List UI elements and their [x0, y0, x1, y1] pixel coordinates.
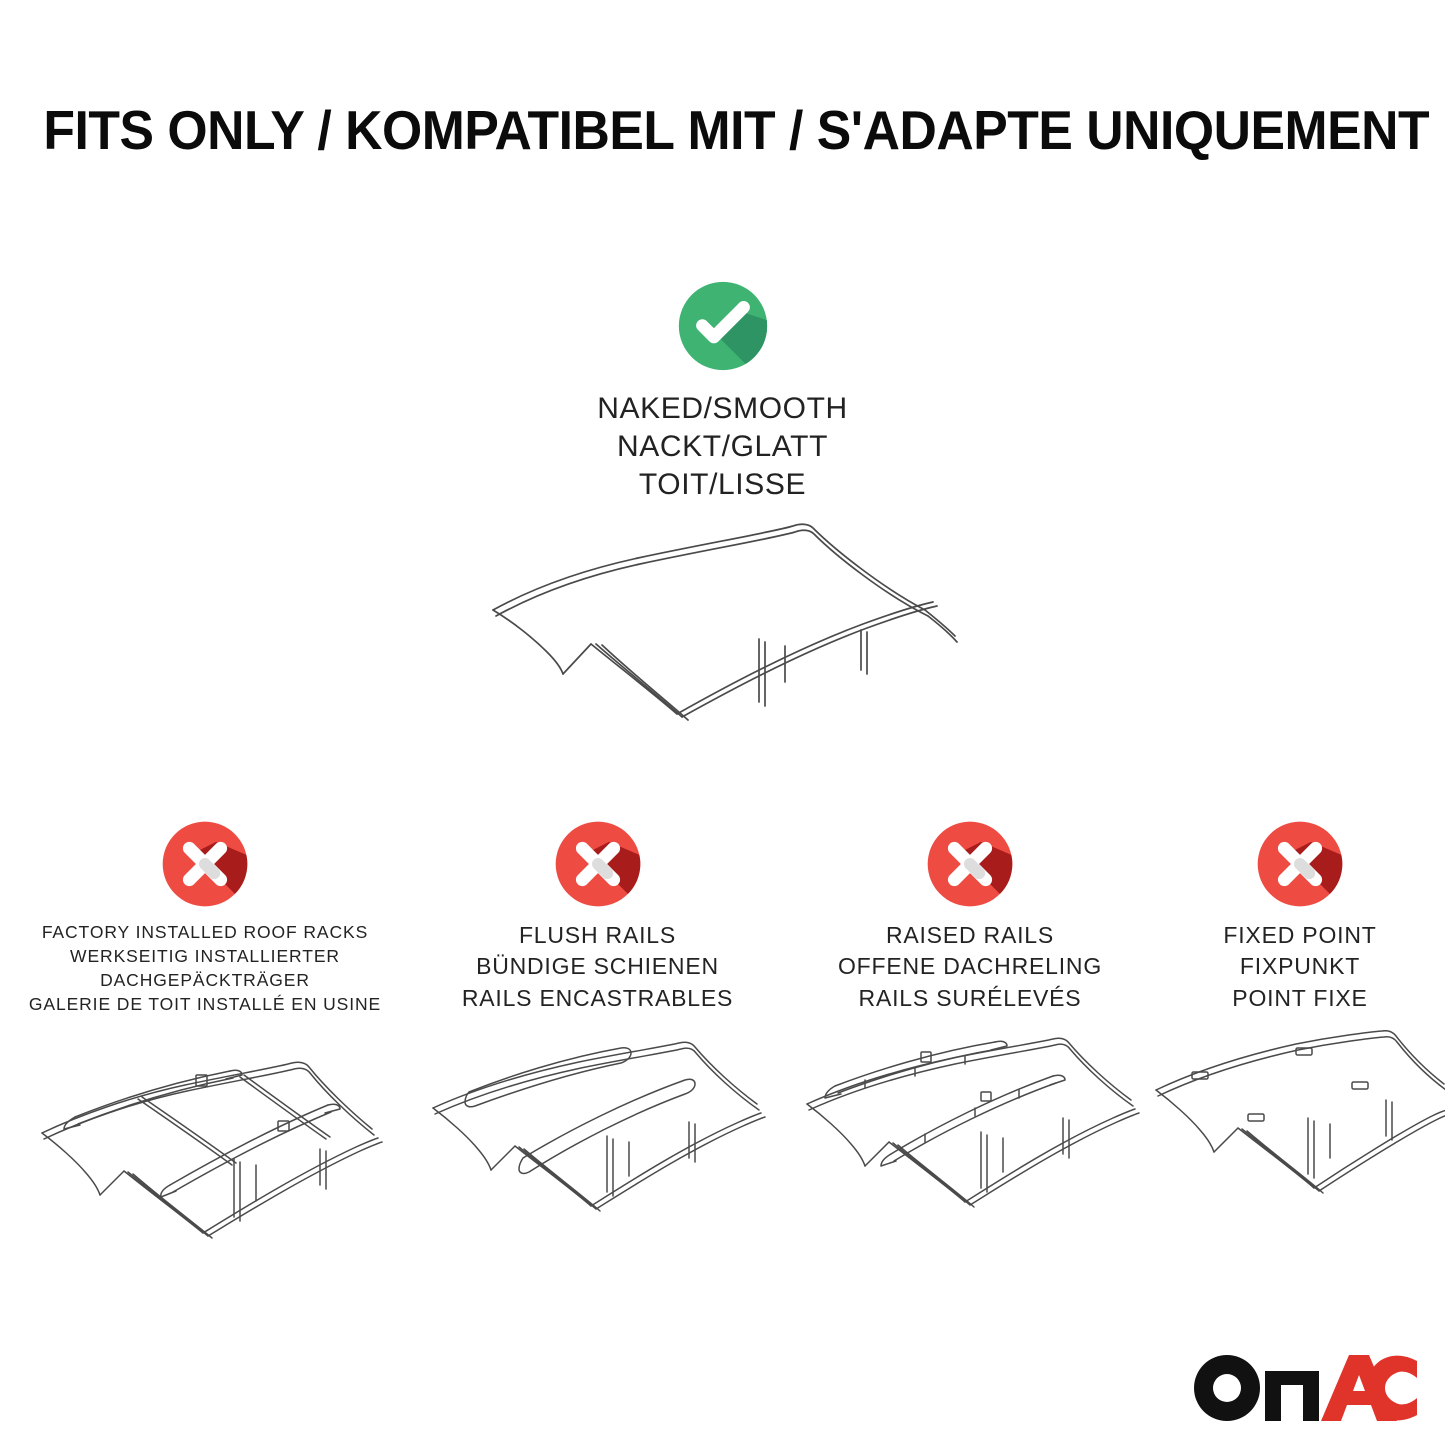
label-fr: POINT FIXE: [1223, 983, 1376, 1014]
label-de-1: WERKSEITIG INSTALLIERTER: [29, 944, 381, 968]
x-circle-icon: [552, 818, 644, 910]
incompatible-item-flush-rails: FLUSH RAILS BÜNDIGE SCHIENEN RAILS ENCAS…: [410, 818, 785, 1260]
incompatible-item-fixed-point: FIXED POINT FIXPUNKT POINT FIXE: [1155, 818, 1445, 1260]
label-en: FLUSH RAILS: [462, 920, 733, 951]
x-circle-icon: [924, 818, 1016, 910]
label-en: RAISED RAILS: [838, 920, 1102, 951]
x-circle-icon: [159, 818, 251, 910]
incompatible-labels: RAISED RAILS OFFENE DACHRELING RAILS SUR…: [838, 920, 1102, 1014]
label-en: FIXED POINT: [1223, 920, 1376, 951]
label-fr: RAILS SURÉLEVÉS: [838, 983, 1102, 1014]
label-de: OFFENE DACHRELING: [838, 951, 1102, 982]
label-de: BÜNDIGE SCHIENEN: [462, 951, 733, 982]
car-roof-flush-rails-illustration: [423, 1030, 773, 1260]
car-roof-factory-roof-racks-illustration: [20, 1033, 390, 1263]
label-fr: RAILS ENCASTRABLES: [462, 983, 733, 1014]
logo-letter-o: [1194, 1355, 1260, 1421]
incompatible-item-raised-rails: RAISED RAILS OFFENE DACHRELING RAILS SUR…: [785, 818, 1155, 1260]
car-roof-fixed-point-illustration: [1150, 1030, 1445, 1260]
car-roof-raised-rails-illustration: [795, 1030, 1145, 1260]
omac-logo: OMAC: [1189, 1349, 1419, 1423]
compatible-label-en: NAKED/SMOOTH: [597, 390, 848, 428]
incompatible-labels: FIXED POINT FIXPUNKT POINT FIXE: [1223, 920, 1376, 1014]
car-roof-naked-smooth-illustration: [0, 492, 1445, 742]
compatible-section: NAKED/SMOOTH NACKT/GLATT TOIT/LISSE: [0, 278, 1445, 504]
x-circle-icon: [1254, 818, 1346, 910]
check-circle-icon: [675, 278, 771, 374]
incompatible-section: FACTORY INSTALLED ROOF RACKS WERKSEITIG …: [0, 818, 1445, 1263]
label-de-2: DACHGEPÄCKTRÄGER: [29, 968, 381, 992]
label-en: FACTORY INSTALLED ROOF RACKS: [29, 920, 381, 944]
compatible-labels: NAKED/SMOOTH NACKT/GLATT TOIT/LISSE: [597, 390, 848, 504]
compatible-label-de: NACKT/GLATT: [597, 428, 848, 466]
label-de: FIXPUNKT: [1223, 951, 1376, 982]
incompatible-labels: FLUSH RAILS BÜNDIGE SCHIENEN RAILS ENCAS…: [462, 920, 733, 1014]
label-fr: GALERIE DE TOIT INSTALLÉ EN USINE: [29, 992, 381, 1016]
incompatible-item-factory-roof-racks: FACTORY INSTALLED ROOF RACKS WERKSEITIG …: [0, 818, 410, 1263]
logo-letter-m: [1265, 1371, 1319, 1421]
incompatible-labels: FACTORY INSTALLED ROOF RACKS WERKSEITIG …: [29, 920, 381, 1017]
page-title: FITS ONLY / KOMPATIBEL MIT / S'ADAPTE UN…: [43, 98, 1401, 162]
